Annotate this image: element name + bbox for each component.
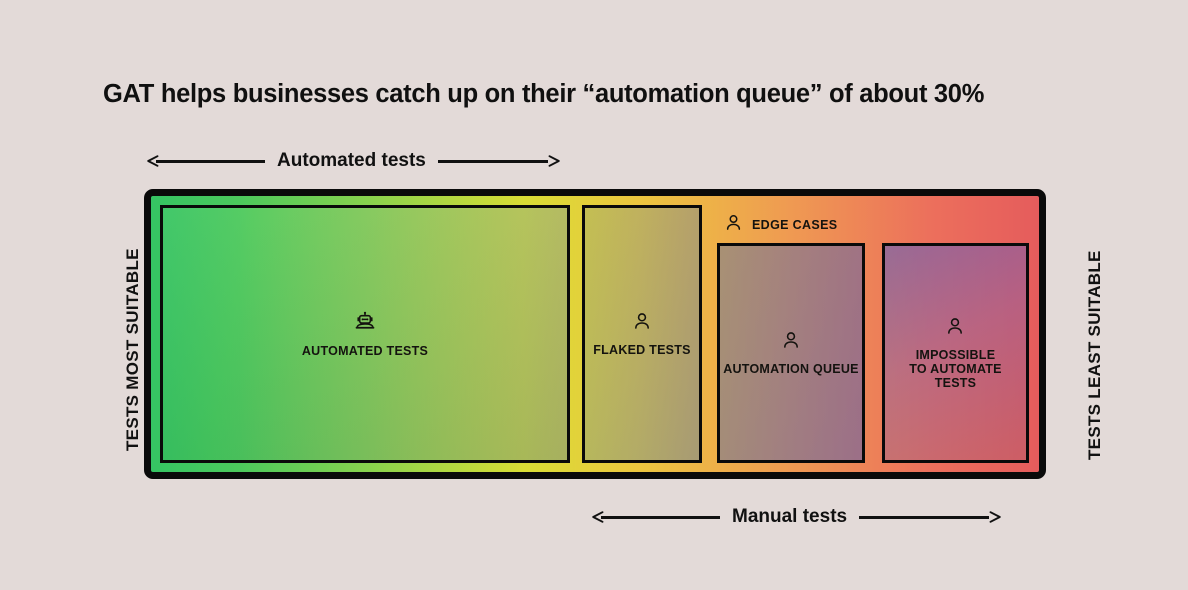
diagram-canvas: GAT helps businesses catch up on their “… — [0, 0, 1188, 590]
person-icon — [632, 311, 652, 336]
top-axis-label: Automated tests — [265, 150, 438, 172]
panel-impossible-to-automate[interactable]: IMPOSSIBLE TO AUTOMATE TESTS — [882, 243, 1029, 463]
arrow-left-icon — [147, 155, 265, 167]
edge-cases-label: EDGE CASES — [752, 218, 837, 232]
panel-label: AUTOMATED TESTS — [302, 344, 428, 358]
arrow-right-icon — [438, 155, 560, 167]
arrow-right-icon — [859, 511, 1001, 523]
person-icon — [945, 316, 965, 341]
panel-flaked-tests[interactable]: FLAKED TESTS — [582, 205, 702, 463]
panel-automated-tests[interactable]: AUTOMATED TESTS — [160, 205, 570, 463]
panel-automation-queue[interactable]: AUTOMATION QUEUE — [717, 243, 865, 463]
bottom-axis: Manual tests — [592, 505, 1001, 529]
panel-label: IMPOSSIBLE TO AUTOMATE TESTS — [909, 348, 1002, 390]
person-icon — [724, 213, 743, 237]
page-title: GAT helps businesses catch up on their “… — [103, 80, 1103, 109]
person-icon — [781, 330, 801, 355]
edge-cases-callout: EDGE CASES — [724, 213, 837, 237]
robot-icon — [354, 310, 376, 337]
quadrant-matrix: AUTOMATED TESTS FLAKED TESTS — [144, 189, 1046, 479]
arrow-left-icon — [592, 511, 720, 523]
top-axis: Automated tests — [147, 149, 560, 173]
bottom-axis-label: Manual tests — [720, 506, 859, 528]
right-axis-label: TESTS LEAST SUITABLE — [1085, 250, 1105, 460]
left-axis-label: TESTS MOST SUITABLE — [123, 248, 143, 451]
panel-label: AUTOMATION QUEUE — [723, 362, 858, 376]
panel-label: FLAKED TESTS — [593, 343, 690, 357]
